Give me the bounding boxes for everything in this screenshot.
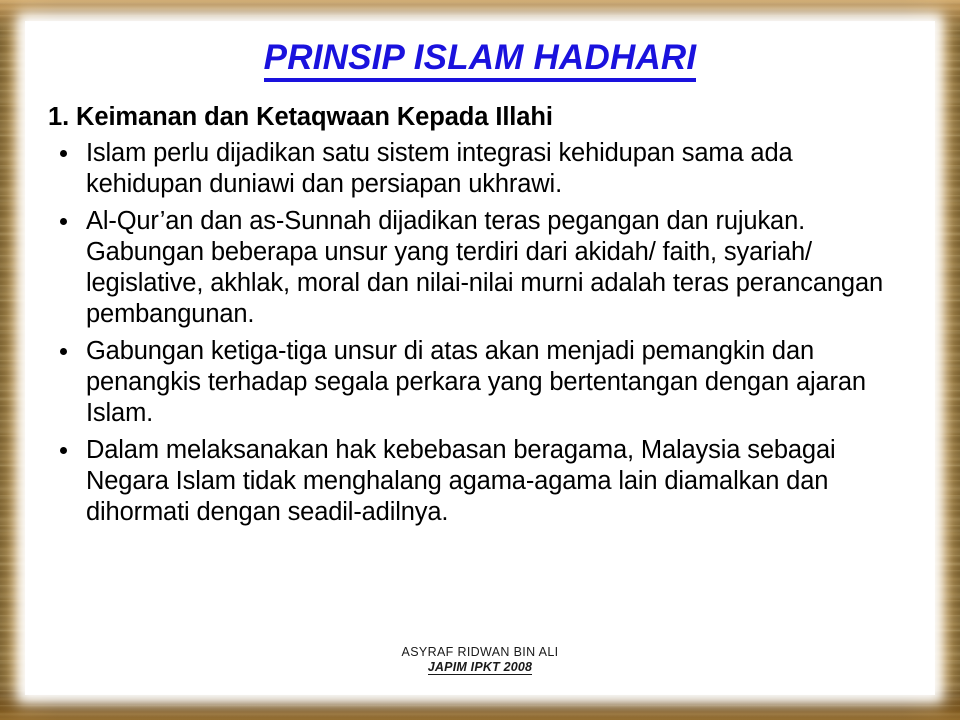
list-item-text: Al-Qur’an dan as-Sunnah dijadikan teras …: [86, 206, 908, 330]
list-item: Dalam melaksanakan hak kebebasan beragam…: [44, 435, 908, 528]
list-item: Gabungan ketiga-tiga unsur di atas akan …: [44, 336, 908, 429]
slide-body: 1. Keimanan dan Ketaqwaan Kepada Illahi …: [44, 102, 908, 534]
bullet-dot-icon: [60, 447, 67, 454]
list-item-text: Islam perlu dijadikan satu sistem integr…: [86, 138, 908, 200]
footer-source: JAPIM IPKT 2008: [34, 660, 926, 676]
list-item: Al-Qur’an dan as-Sunnah dijadikan teras …: [44, 206, 908, 330]
list-item: Islam perlu dijadikan satu sistem integr…: [44, 138, 908, 200]
footer-author: ASYRAF RIDWAN BIN ALI: [34, 645, 926, 661]
bullet-dot-icon: [60, 348, 67, 355]
bullet-list: Islam perlu dijadikan satu sistem integr…: [44, 138, 908, 528]
slide-page-surface: PRINSIP ISLAM HADHARI 1. Keimanan dan Ke…: [34, 30, 926, 686]
bullet-dot-icon: [60, 218, 67, 225]
slide-content: PRINSIP ISLAM HADHARI 1. Keimanan dan Ke…: [34, 30, 926, 686]
section-heading: 1. Keimanan dan Ketaqwaan Kepada Illahi: [44, 102, 908, 132]
slide-footer: ASYRAF RIDWAN BIN ALI JAPIM IPKT 2008: [34, 645, 926, 676]
footer-source-text: JAPIM IPKT 2008: [428, 660, 532, 675]
presentation-slide: PRINSIP ISLAM HADHARI 1. Keimanan dan Ke…: [0, 0, 960, 720]
list-item-text: Gabungan ketiga-tiga unsur di atas akan …: [86, 336, 908, 429]
page-title-text: PRINSIP ISLAM HADHARI: [264, 40, 697, 82]
page-title: PRINSIP ISLAM HADHARI: [34, 38, 926, 82]
bullet-dot-icon: [60, 150, 67, 157]
list-item-text: Dalam melaksanakan hak kebebasan beragam…: [86, 435, 908, 528]
